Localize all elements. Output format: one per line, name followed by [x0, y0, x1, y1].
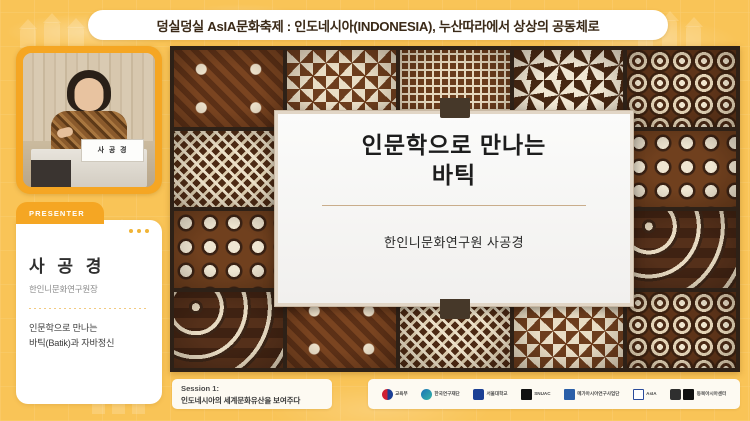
presenter-panel: PRESENTER 사 공 경 한인니문화연구원장 인문학으로 만나는 바틱(B… [16, 202, 162, 404]
seal-icon [670, 389, 681, 400]
slide-clip-bottom-icon [440, 299, 470, 319]
logo-label: 한국연구재단 [434, 391, 459, 397]
ministry-of-education-icon [382, 389, 393, 400]
northeast-asia-center-icon [683, 389, 694, 400]
slide-sheet: 인문학으로 만나는 바틱 한인니문화연구원 사공경 [275, 111, 633, 306]
podium-nameplate: 사 공 경 [81, 139, 144, 162]
presenter-role: 한인니문화연구원장 [29, 283, 149, 295]
batik-tile [174, 292, 283, 369]
slide-title-line1: 인문학으로 만나는 [362, 130, 547, 160]
batik-tile [627, 131, 736, 208]
broadcast-stage: 덩실덩실 AsIA문화축제 : 인도네시아(INDONESIA), 누산따라에서… [0, 0, 750, 421]
session-label: Session 1: [181, 384, 323, 393]
decorative-dots-icon [129, 229, 149, 233]
logo-item: 한국연구재단 [421, 389, 460, 400]
speaker-face [75, 78, 104, 111]
event-title-bar: 덩실덩실 AsIA문화축제 : 인도네시아(INDONESIA), 누산따라에서… [88, 10, 668, 40]
logo-item: 교육부 [382, 389, 408, 400]
slide-subtitle: 한인니문화연구원 사공경 [384, 232, 524, 251]
session-description: 인도네시아의 세계문화유산을 보여주다 [181, 395, 323, 406]
slide-title-line2: 바틱 [362, 160, 547, 190]
presenter-tab-label: PRESENTER [29, 209, 85, 218]
dotted-divider [29, 308, 149, 309]
logo-label: 서울대학교 [486, 391, 507, 397]
presenter-name: 사 공 경 [29, 252, 149, 277]
slide-clip-top-icon [440, 98, 470, 118]
batik-tile [174, 211, 283, 288]
session-info-box: Session 1: 인도네시아의 세계문화유산을 보여주다 [172, 379, 332, 409]
snu-icon [473, 389, 484, 400]
sponsor-logo-bar: 교육부 한국연구재단 서울대학교 SNUAC 메가아시아연구사업단 AsIA 동… [368, 379, 740, 409]
batik-tile [627, 50, 736, 127]
logo-item: 서울대학교 [473, 389, 508, 400]
hk-plus-icon [564, 389, 575, 400]
left-sidebar: 사 공 경 PRESENTER 사 공 경 한인니문화연구원장 인문학으로 만나… [8, 46, 168, 412]
logo-item: 메가아시아연구사업단 [564, 389, 620, 400]
logo-label: 교육부 [395, 391, 408, 397]
presenter-topic-line2: 바틱(Batik)과 자바정신 [29, 336, 149, 351]
podium-side-panel [31, 160, 71, 187]
nameplate-text: 사 공 경 [98, 145, 128, 155]
presenter-video-card[interactable]: 사 공 경 [16, 46, 162, 194]
batik-tile [174, 50, 283, 127]
page-title: 덩실덩실 AsIA문화축제 : 인도네시아(INDONESIA), 누산따라에서… [157, 16, 600, 35]
snuac-icon [521, 389, 532, 400]
presenter-tab: PRESENTER [16, 202, 104, 224]
video-feed[interactable]: 사 공 경 [23, 53, 155, 187]
logo-item: SNUAC [521, 389, 551, 400]
asia-icon [633, 389, 644, 400]
slide-divider [322, 205, 587, 206]
batik-tile [627, 292, 736, 369]
batik-tile [627, 211, 736, 288]
logo-label: 동북아시아센터 [697, 391, 727, 397]
logo-label: 메가아시아연구사업단 [577, 391, 619, 397]
presenter-card: 사 공 경 한인니문화연구원장 인문학으로 만나는 바틱(Batik)과 자바정… [16, 220, 162, 404]
logo-item: AsIA [633, 389, 657, 400]
nrf-icon [421, 389, 432, 400]
logo-label: AsIA [646, 391, 656, 397]
logo-item: 동북아시아센터 [670, 389, 727, 400]
batik-tile [174, 131, 283, 208]
logo-label: SNUAC [534, 391, 550, 397]
presentation-slide-region[interactable]: 인문학으로 만나는 바틱 한인니문화연구원 사공경 [170, 46, 740, 372]
presenter-topic-line1: 인문학으로 만나는 [29, 321, 149, 336]
